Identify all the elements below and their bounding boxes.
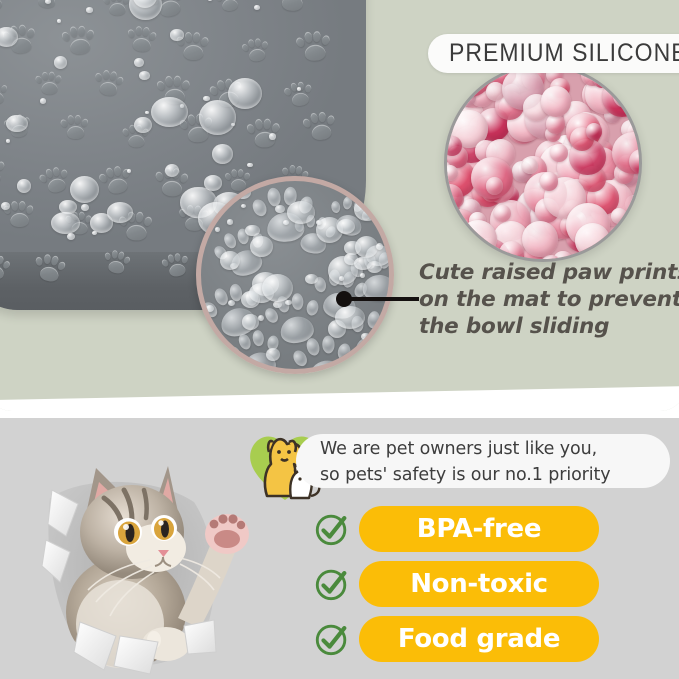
badge-label-food-grade: Food grade — [398, 624, 560, 654]
magnified-droplet — [337, 219, 355, 234]
magnified-droplet — [245, 225, 259, 237]
magnified-droplet — [287, 201, 315, 224]
premium-silicone-label: PREMIUM SILICONE — [449, 39, 679, 68]
magnified-droplet — [235, 186, 251, 199]
silicone-bead — [541, 86, 571, 116]
paw-print — [159, 249, 192, 280]
magnified-droplet — [266, 348, 280, 361]
water-droplet — [208, 0, 212, 1]
owner-statement-line-2: so pets' safety is our no.1 priority — [320, 462, 670, 488]
paw-print-callout-text: Cute raised paw prints on the mat to pre… — [419, 259, 677, 340]
water-droplet — [228, 78, 262, 109]
badge-label-non-toxic: Non-toxic — [410, 569, 548, 599]
magnified-droplet — [354, 198, 380, 221]
water-droplet — [203, 96, 210, 101]
magnified-droplet — [220, 251, 239, 270]
magnified-droplet — [283, 220, 289, 225]
check-circle-icon — [313, 565, 351, 603]
paw-print — [0, 155, 7, 188]
water-droplet — [134, 58, 144, 68]
silicone-bead — [575, 223, 610, 258]
paw-print — [37, 163, 74, 198]
water-droplet — [247, 163, 252, 168]
silicone-bead — [522, 221, 558, 257]
magnified-droplet — [242, 314, 259, 330]
magnified-droplet — [339, 276, 344, 280]
magnified-droplet — [275, 205, 285, 213]
feature-badge-food-grade: Food grade — [313, 616, 599, 662]
water-droplet — [254, 5, 260, 10]
magnified-droplet — [241, 204, 246, 208]
magnified-droplet — [360, 273, 365, 278]
water-droplet — [54, 56, 68, 69]
paw-callout-line-3: the bowl sliding — [419, 313, 677, 340]
magnified-droplet — [227, 219, 234, 225]
product-feature-poster: PREMIUM SILICONE Cute raised paw prints … — [0, 0, 679, 679]
paw-print — [30, 250, 68, 286]
water-droplet — [70, 176, 99, 203]
water-droplet — [51, 212, 79, 234]
magnified-droplet — [215, 227, 221, 232]
paw-print — [125, 23, 160, 56]
water-droplet — [134, 117, 152, 134]
feature-badge-bpa-free: BPA-free — [313, 506, 599, 552]
paw-print — [101, 246, 134, 277]
paw-print — [0, 79, 10, 107]
kitten-illustration — [8, 440, 258, 679]
kitten-torn-paper-photo — [8, 440, 258, 679]
paw-print — [0, 0, 8, 13]
paw-detail-magnifier — [196, 176, 394, 374]
badge-pill-food-grade[interactable]: Food grade — [359, 616, 599, 662]
silicone-bead — [540, 172, 559, 191]
owner-statement-text: We are pet owners just like you, so pets… — [320, 436, 670, 488]
magnified-droplet — [206, 305, 214, 312]
check-circle-icon — [313, 620, 351, 658]
water-droplet — [67, 233, 75, 240]
water-droplet — [297, 87, 302, 91]
magnified-droplet — [316, 220, 323, 226]
water-droplet — [145, 111, 150, 115]
silicone-bead — [611, 208, 627, 224]
paw-print — [240, 35, 271, 65]
feature-badge-non-toxic: Non-toxic — [313, 561, 599, 607]
silicone-bead — [494, 205, 511, 222]
badge-pill-non-toxic[interactable]: Non-toxic — [359, 561, 599, 607]
paw-print — [273, 0, 311, 14]
paw-print — [301, 108, 340, 145]
paw-print — [294, 27, 333, 64]
pink-silicone-beads-circle — [444, 64, 642, 262]
water-droplet — [86, 7, 93, 12]
paw-print — [91, 66, 126, 100]
silicone-bead — [546, 114, 566, 134]
water-droplet — [199, 100, 236, 135]
premium-silicone-badge: PREMIUM SILICONE — [428, 34, 679, 73]
badge-pill-bpa-free[interactable]: BPA-free — [359, 506, 599, 552]
water-droplet — [6, 139, 10, 143]
water-droplet — [17, 179, 31, 192]
magnified-droplet — [335, 306, 366, 329]
feature-badge-list: BPA-free Non-toxic Food grade — [313, 506, 599, 671]
silicone-bead — [550, 144, 568, 162]
magnified-droplet — [361, 333, 369, 340]
water-droplet — [151, 97, 188, 127]
silicone-bead — [459, 220, 497, 258]
paw-print — [96, 161, 135, 199]
paw-callout-line-2: on the mat to prevent — [419, 286, 677, 313]
silicone-bead — [522, 158, 538, 174]
badge-label-bpa-free: BPA-free — [417, 514, 541, 544]
water-droplet — [165, 164, 179, 177]
paw-print — [60, 113, 91, 142]
paw-print — [214, 0, 244, 14]
paw-print — [246, 116, 283, 151]
owner-statement-line-1: We are pet owners just like you, — [320, 436, 670, 462]
paw-print — [34, 70, 63, 97]
water-droplet — [40, 98, 46, 104]
magnified-droplet — [305, 274, 317, 284]
water-droplet — [57, 19, 61, 23]
paw-print — [103, 0, 131, 17]
paw-callout-line-1: Cute raised paw prints — [419, 259, 677, 286]
water-droplet — [90, 213, 113, 233]
magnified-droplet — [376, 243, 383, 250]
magnified-droplet — [355, 236, 378, 258]
magnified-droplet — [285, 300, 292, 305]
water-droplet — [204, 175, 222, 190]
magnified-droplet — [241, 291, 260, 309]
water-droplet — [92, 231, 97, 235]
magnified-droplet — [250, 236, 273, 257]
paw-print — [282, 78, 316, 110]
silicone-bead — [486, 177, 504, 195]
paw-print — [60, 22, 98, 58]
water-droplet — [212, 144, 233, 164]
water-droplet — [139, 71, 150, 80]
water-droplet — [127, 169, 131, 173]
check-circle-icon — [313, 510, 351, 548]
callout-leader-line — [348, 297, 419, 301]
